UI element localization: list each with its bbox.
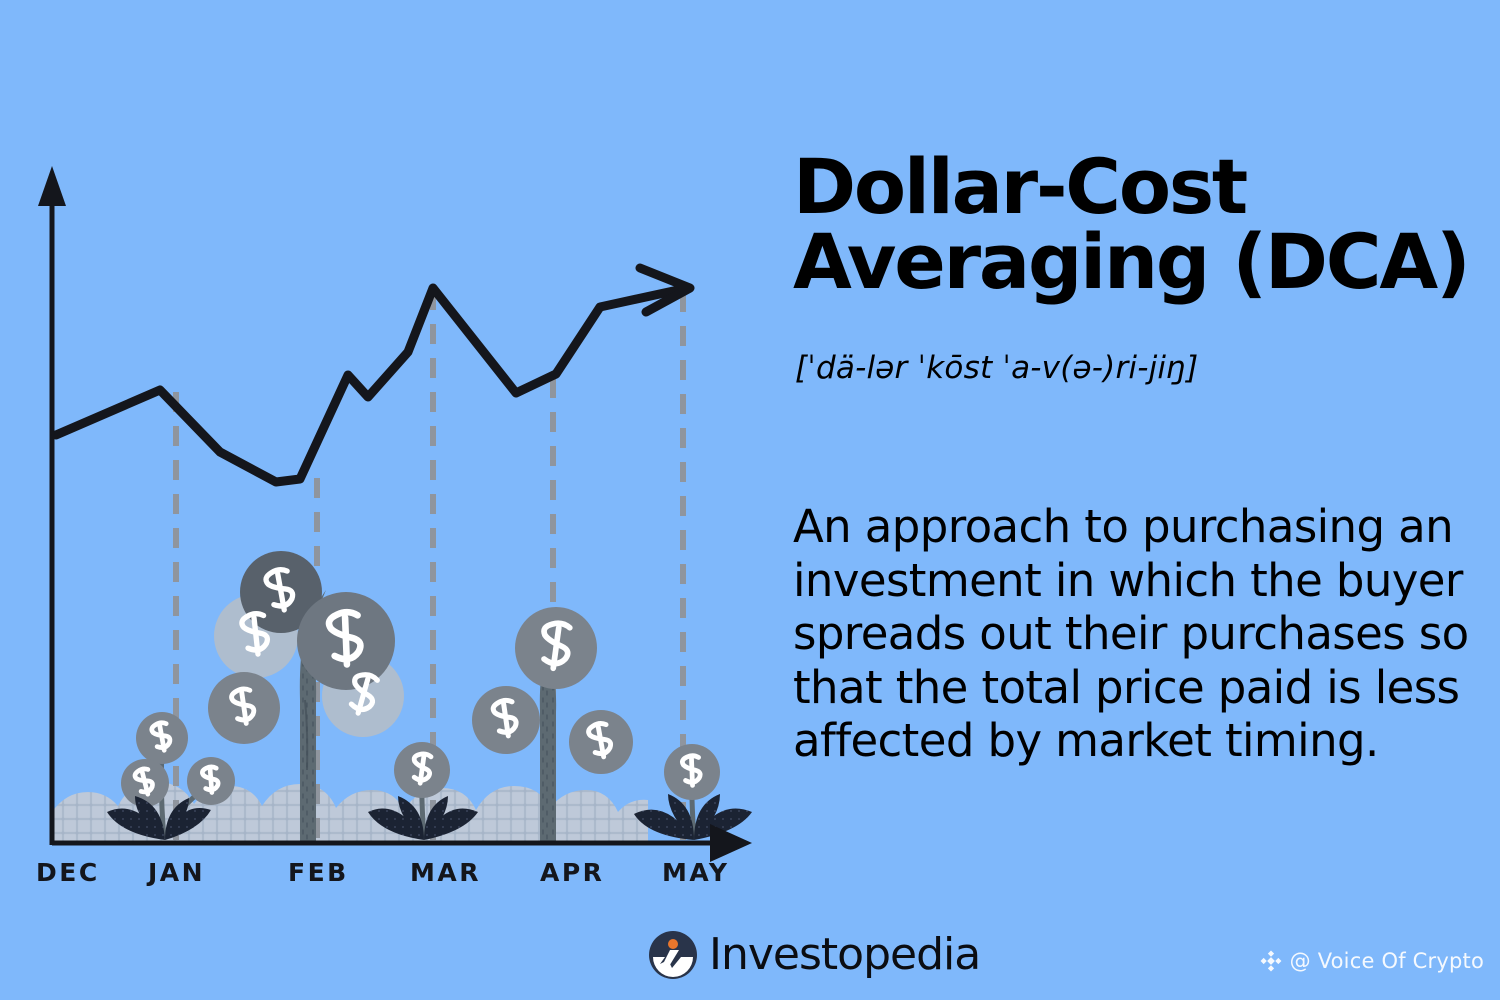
page-title: Dollar-Cost Averaging (DCA) bbox=[793, 149, 1483, 299]
x-tick-dec: DEC bbox=[36, 858, 100, 887]
watermark-text: @ Voice Of Crypto bbox=[1290, 951, 1484, 972]
x-tick-mar: MAR bbox=[410, 858, 481, 887]
binance-diamond-icon bbox=[1260, 950, 1282, 972]
x-tick-may: MAY bbox=[662, 858, 729, 887]
infographic-canvas: DEC JAN FEB MAR APR MAY Dollar-Cost Aver… bbox=[0, 0, 1500, 1000]
x-axis-arrowhead bbox=[710, 824, 752, 862]
money-tree-chart-illustration: DEC JAN FEB MAR APR MAY bbox=[0, 0, 790, 1000]
pronunciation-text: [ˈdä-lər ˈkōst ˈa-v(ə-)ri-jiŋ] bbox=[795, 350, 1485, 386]
investopedia-wordmark: Investopedia bbox=[709, 933, 980, 977]
x-axis-tick-labels: DEC JAN FEB MAR APR MAY bbox=[0, 858, 790, 892]
sprout-mar bbox=[368, 742, 478, 840]
price-line bbox=[56, 268, 690, 482]
investopedia-logo-icon bbox=[648, 930, 698, 980]
y-axis-arrowhead bbox=[38, 166, 66, 206]
investopedia-brand: Investopedia bbox=[648, 925, 980, 985]
chart-svg bbox=[0, 0, 790, 1000]
watermark: @ Voice Of Crypto bbox=[1260, 950, 1484, 972]
x-tick-feb: FEB bbox=[288, 858, 349, 887]
definition-text: An approach to purchasing an investment … bbox=[793, 500, 1493, 768]
x-tick-jan: JAN bbox=[148, 858, 205, 887]
sprout-may bbox=[634, 744, 752, 840]
x-tick-apr: APR bbox=[540, 858, 604, 887]
definition-panel: Dollar-Cost Averaging (DCA) [ˈdä-lər ˈkō… bbox=[793, 0, 1500, 1000]
